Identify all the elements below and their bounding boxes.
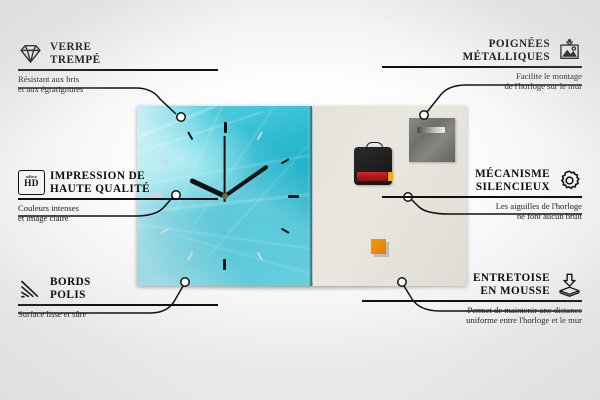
callout-bords-polis[interactable]: BORDSPOLIS Surface lisse et sûre [18, 276, 218, 319]
polished-edges-icon [18, 276, 43, 301]
callout-header: BORDSPOLIS [18, 276, 218, 301]
callout-subtitle: Couleurs intenseset image claire [18, 203, 218, 224]
callout-rule [382, 66, 582, 67]
foam-spacer-icon [557, 272, 582, 297]
callout-subtitle: Permet de maintenir une distanceuniforme… [362, 305, 582, 326]
callout-subtitle: Les aiguilles de l'horlogene font aucun … [382, 201, 582, 222]
callout-verre-trempe[interactable]: VERRETREMPÉ Résistant aux briset aux égr… [18, 41, 218, 94]
picture-hanger-icon [557, 38, 582, 63]
gear-icon [557, 168, 582, 193]
hanger-slot [417, 127, 445, 133]
callout-title: MÉCANISMESILENCIEUX [475, 168, 550, 193]
callout-header: ultra HD IMPRESSION DEHAUTE QUALITÉ [18, 170, 218, 195]
callout-title: BORDSPOLIS [50, 276, 91, 301]
callout-title: ENTRETOISEEN MOUSSE [473, 272, 550, 297]
mechanism-hook [366, 142, 383, 151]
callout-subtitle: Surface lisse et sûre [18, 309, 218, 319]
callout-header: ENTRETOISEEN MOUSSE [362, 272, 582, 297]
callout-entretoise-en-mousse[interactable]: ENTRETOISEEN MOUSSE Permet de maintenir … [362, 272, 582, 325]
metal-hanger-plate [409, 118, 455, 162]
callout-title: IMPRESSION DEHAUTE QUALITÉ [50, 170, 150, 195]
callout-title: VERRETREMPÉ [50, 41, 101, 66]
callout-subtitle: Résistant aux briset aux égratignures [18, 74, 218, 95]
callout-header: VERRETREMPÉ [18, 41, 218, 66]
callout-header: POIGNÉESMÉTALLIQUES [382, 38, 582, 63]
diamond-icon [18, 41, 43, 66]
callout-rule [18, 304, 218, 305]
callout-mecanisme-silencieux[interactable]: MÉCANISMESILENCIEUX Les aiguilles de l'h… [382, 168, 582, 221]
foam-spacer [371, 239, 386, 254]
callout-poignees-metalliques[interactable]: POIGNÉESMÉTALLIQUES Facilite le montaged… [382, 38, 582, 91]
clock-minute-hand [223, 165, 268, 198]
callout-title: POIGNÉESMÉTALLIQUES [463, 38, 550, 63]
callout-rule [382, 196, 582, 197]
callout-rule [18, 198, 218, 199]
hd-label: HD [24, 180, 39, 189]
callout-rule [18, 69, 218, 70]
ultra-hd-icon: ultra HD [18, 170, 43, 195]
callout-rule [362, 300, 582, 301]
clock-center-cap [222, 193, 228, 199]
callout-header: MÉCANISMESILENCIEUX [382, 168, 582, 193]
callout-subtitle: Facilite le montagede l'horloge sur le m… [382, 71, 582, 92]
callout-impression-haute-qualite[interactable]: ultra HD IMPRESSION DEHAUTE QUALITÉ Coul… [18, 170, 218, 223]
infographic-canvas: VERRETREMPÉ Résistant aux briset aux égr… [0, 0, 600, 400]
